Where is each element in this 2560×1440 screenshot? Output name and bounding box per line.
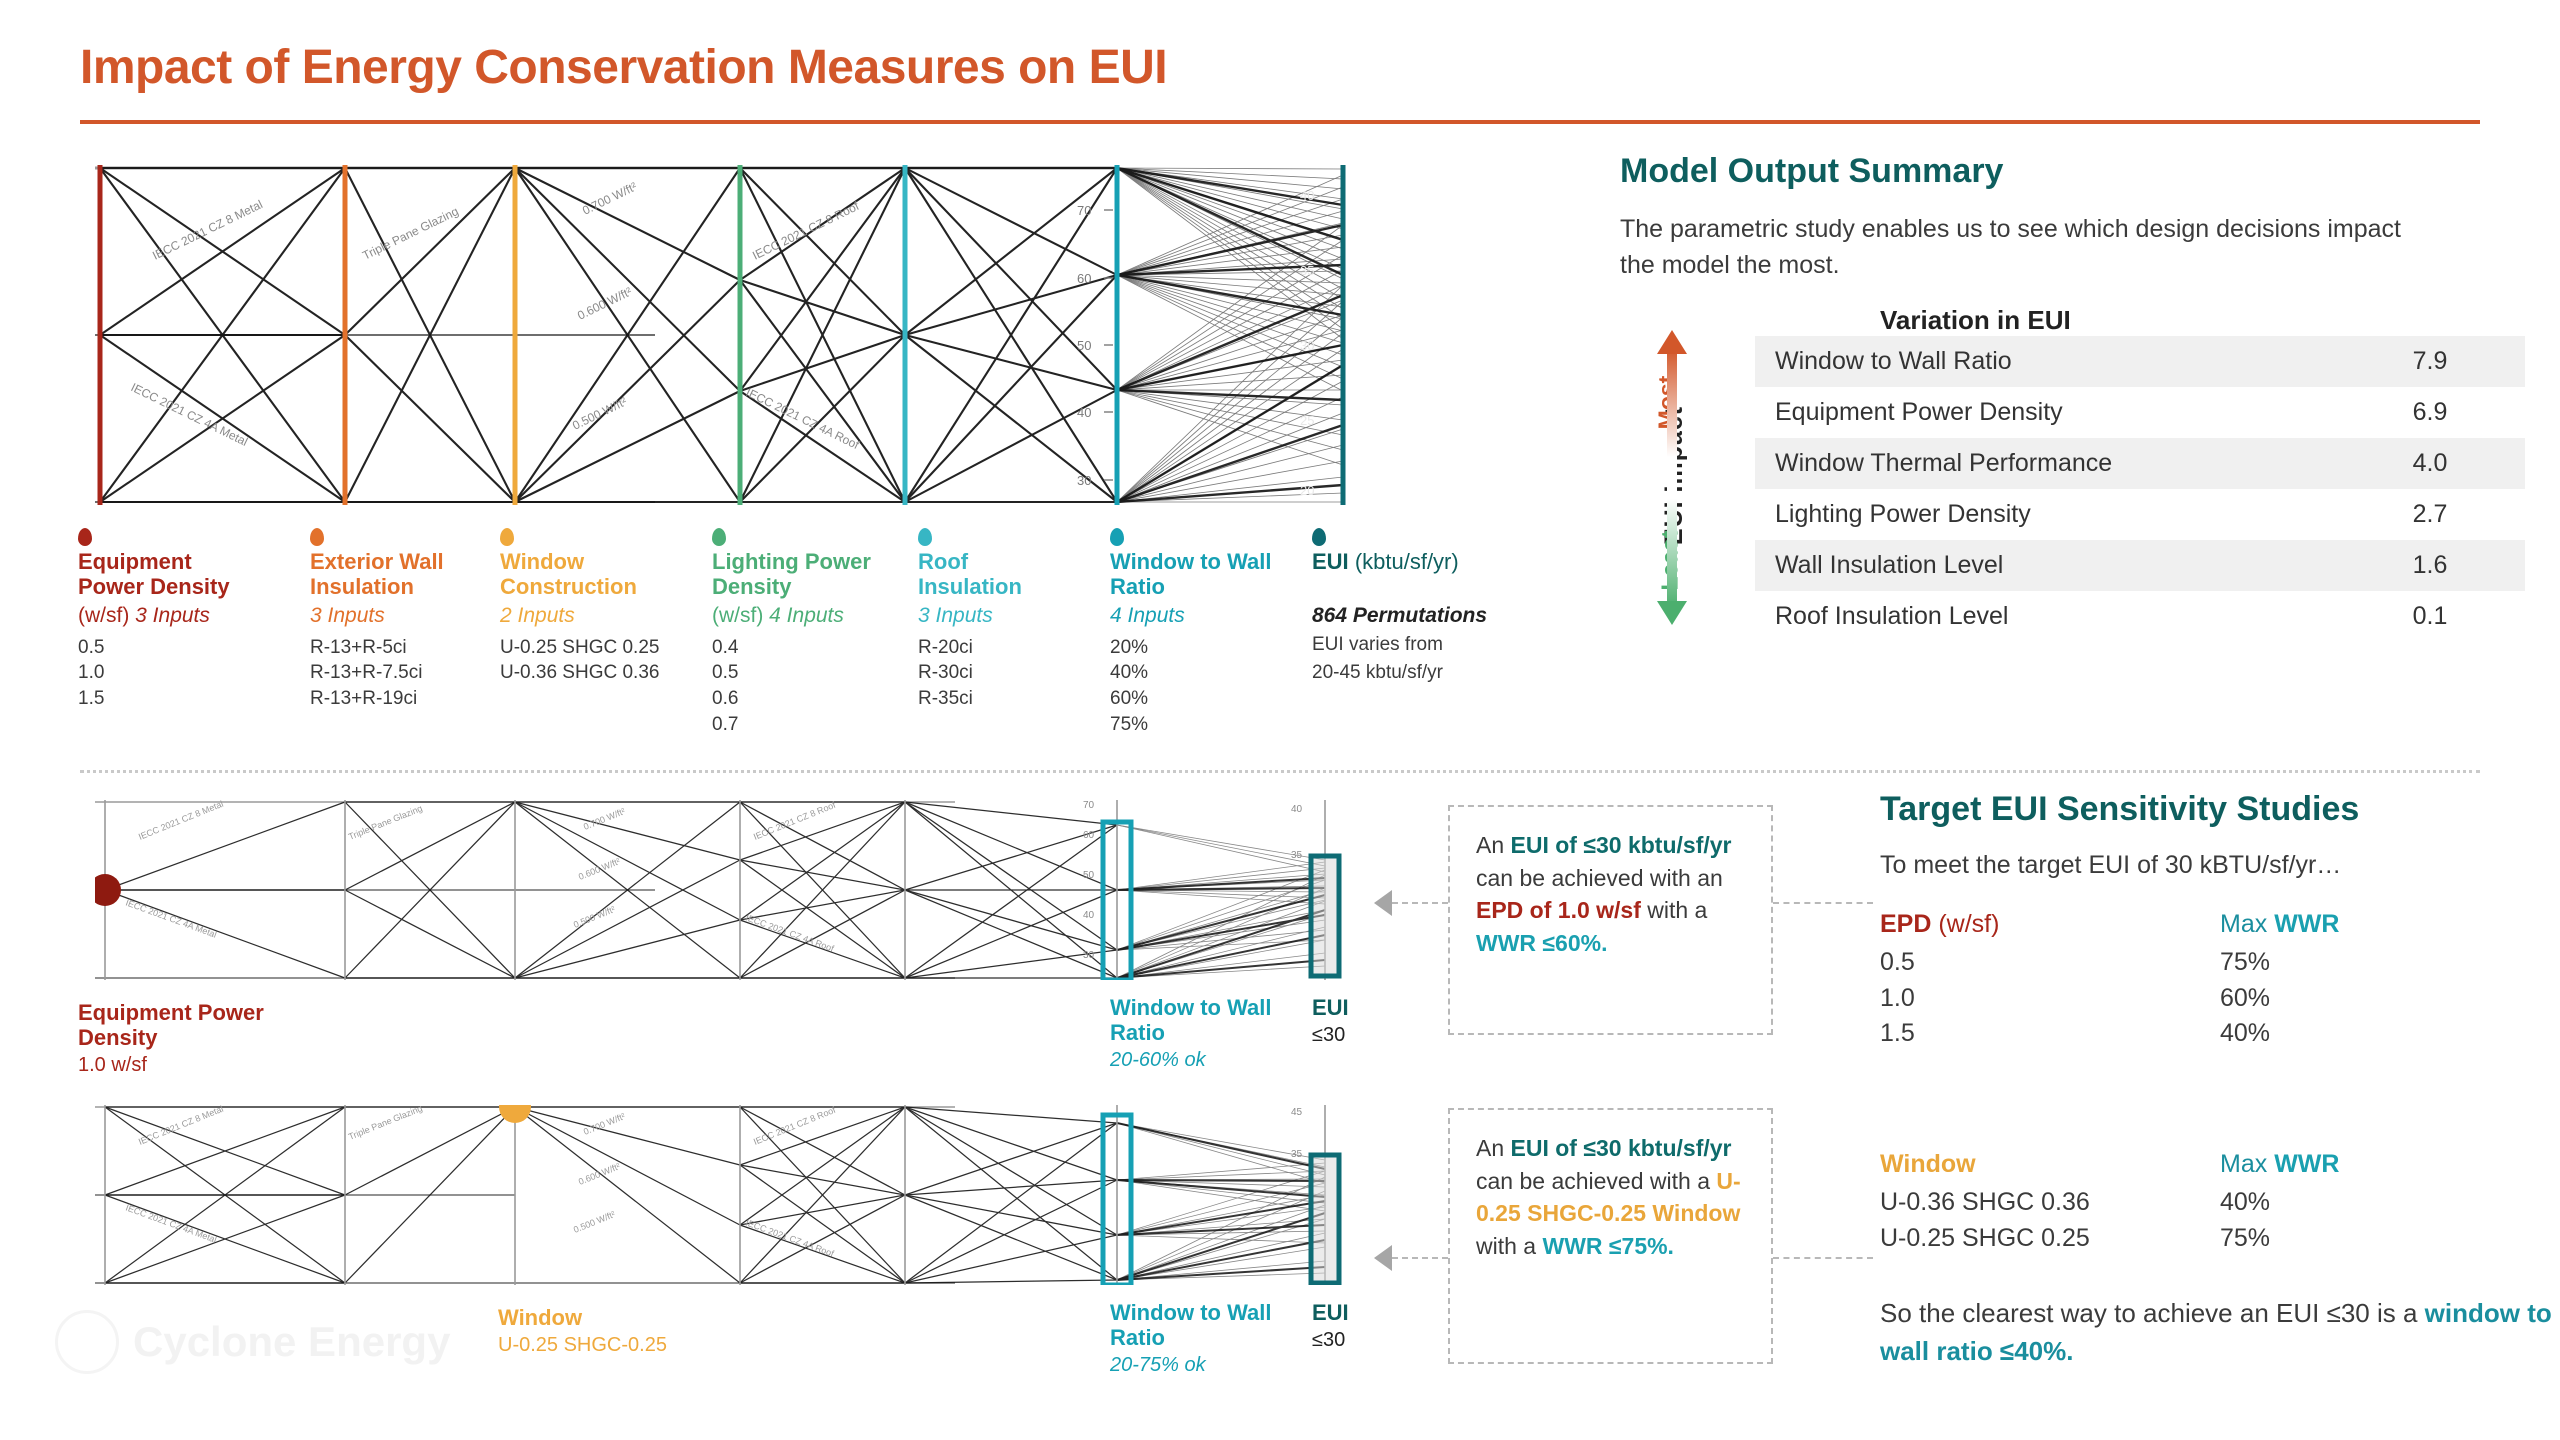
sensitivity-epd-col2-header: Max WWR: [2220, 910, 2339, 939]
svg-text:60: 60: [1083, 830, 1095, 841]
svg-text:0.500 W/ft²: 0.500 W/ft²: [572, 904, 617, 930]
variation-in-eui-column-header: Variation in EUI: [1880, 305, 2520, 336]
svg-text:40: 40: [1291, 804, 1303, 815]
study-2-arrow-line: [1392, 1257, 1448, 1259]
impact-row-name: Lighting Power Density: [1755, 500, 2335, 529]
highlight-box-eui-2: [1311, 1155, 1339, 1283]
study-1-left-value: 1.0 w/sf: [78, 1052, 338, 1078]
study-2-wwr-label: Window to Wall Ratio 20-75% ok: [1110, 1300, 1275, 1378]
wwr-tick-60: 60: [1077, 271, 1091, 286]
t: WWR: [2274, 910, 2339, 938]
study-2-arrow-line-right: [1773, 1257, 1873, 1259]
impact-row-name: Window Thermal Performance: [1755, 449, 2335, 478]
param-dot-lighting-power-density: [712, 528, 726, 546]
t: with a: [1641, 897, 1707, 923]
study-1-wwr-label: Window to Wall Ratio 20-60% ok: [1110, 995, 1275, 1073]
svg-text:0.700 W/ft²: 0.700 W/ft²: [582, 1111, 627, 1137]
param-column-window-to-wall-ratio: Window to Wall Ratio 4 Inputs 20% 40% 60…: [1110, 528, 1275, 737]
param-unit: (w/sf): [78, 604, 129, 627]
study-1-wwr-note: 20-60% ok: [1110, 1047, 1275, 1073]
t: can be achieved with an: [1476, 865, 1723, 891]
svg-text:IECC 2021 CZ 8 Metal: IECC 2021 CZ 8 Metal: [137, 800, 225, 842]
study-1-eui-value: ≤30: [1312, 1022, 1442, 1048]
sensitivity-window-header: Window Max WWR: [1880, 1150, 2540, 1179]
study-1-eui-title: EUI: [1312, 995, 1442, 1020]
sensitivity-wwr-value: 75%: [2220, 1221, 2270, 1257]
annotation-lpd-0700: 0.700 W/ft²: [580, 179, 639, 217]
param-column-roof-insulation: Roof Insulation 3 Inputs R-20ci R-30ci R…: [918, 528, 1078, 712]
param-value: R-13+R-19ci: [310, 686, 495, 712]
sensitivity-table-window: Window Max WWR U-0.36 SHGC 0.36 40% U-0.…: [1880, 1150, 2540, 1256]
param-subtitle: (w/sf) 3 Inputs: [78, 601, 263, 630]
eui-axis-title: EUI (kbtu/sf/yr): [1312, 550, 1572, 575]
svg-text:40: 40: [1083, 910, 1095, 921]
impact-row-value: 7.9: [2335, 347, 2525, 376]
sensitivity-window-value: U-0.36 SHGC 0.36: [1880, 1185, 2220, 1221]
study-2-eui-title: EUI: [1312, 1300, 1442, 1325]
svg-text:45: 45: [1291, 1107, 1303, 1118]
parallel-coordinates-chart-main: IECC 2021 CZ 8 Metal IECC 2021 CZ 4A Met…: [95, 165, 1355, 505]
study-1-svg: IECC 2021 CZ 8 Metal IECC 2021 CZ 4A Met…: [95, 800, 1355, 980]
impact-row-value: 2.7: [2335, 500, 2525, 529]
sensitivity-title: Target EUI Sensitivity Studies: [1880, 790, 2359, 829]
impact-row-name: Wall Insulation Level: [1755, 551, 2335, 580]
param-column-lighting-power-density: Lighting Power Density (w/sf) 4 Inputs 0…: [712, 528, 877, 737]
t: with a: [1476, 1233, 1542, 1259]
selected-point-equipment-power-density[interactable]: [95, 874, 121, 906]
param-dot-exterior-wall-insulation: [310, 528, 324, 546]
param-subtitle: 4 Inputs: [1110, 601, 1275, 630]
param-value: 75%: [1110, 712, 1275, 738]
annotation-lpd-0500: 0.500 W/ft²: [570, 394, 629, 432]
t: WWR ≤75%.: [1542, 1233, 1673, 1259]
eui-range-line-2: 20-45 kbtu/sf/yr: [1312, 660, 1572, 686]
param-subtitle: 3 Inputs: [310, 601, 495, 630]
param-column-exterior-wall-insulation: Exterior Wall Insulation 3 Inputs R-13+R…: [310, 528, 495, 712]
selected-point-window-construction[interactable]: [499, 1105, 531, 1123]
t: WWR: [2274, 1150, 2339, 1178]
param-values: 0.5 1.0 1.5: [78, 635, 263, 712]
param-title: Equipment Power Density: [78, 550, 263, 599]
study-2-wwr-title: Window to Wall Ratio: [1110, 1300, 1275, 1350]
t: An: [1476, 1135, 1511, 1161]
param-value: 1.5: [78, 686, 263, 712]
impact-row-name: Window to Wall Ratio: [1755, 347, 2335, 376]
sensitivity-window-col1-header: Window: [1880, 1150, 2220, 1179]
param-subtitle: (w/sf) 4 Inputs: [712, 601, 877, 630]
study-2-eui-value: ≤30: [1312, 1327, 1442, 1353]
section-divider: [80, 770, 2480, 773]
t: Window: [1880, 1150, 1976, 1178]
impact-table: Window to Wall Ratio 7.9 Equipment Power…: [1755, 336, 2525, 642]
sensitivity-wwr-value: 60%: [2220, 981, 2270, 1017]
t: EUI of ≤30 kbtu/sf/yr: [1511, 832, 1732, 858]
svg-text:0.700 W/ft²: 0.700 W/ft²: [582, 806, 627, 832]
sensitivity-window-value: U-0.25 SHGC 0.25: [1880, 1221, 2220, 1257]
sensitivity-wwr-value: 75%: [2220, 945, 2270, 981]
svg-text:0.500 W/ft²: 0.500 W/ft²: [572, 1209, 617, 1235]
param-value: R-13+R-7.5ci: [310, 660, 495, 686]
study-1-arrow-line: [1392, 902, 1448, 904]
study-2-arrow-head-icon: [1374, 1245, 1392, 1271]
svg-text:Triple Pane Glazing: Triple Pane Glazing: [347, 1105, 424, 1142]
watermark-logo-icon: [55, 1310, 119, 1374]
study-2-left-value: U-0.25 SHGC-0.25: [498, 1332, 828, 1358]
impact-row-value: 4.0: [2335, 449, 2525, 478]
study-2-callout: An EUI of ≤30 kbtu/sf/yr can be achieved…: [1448, 1108, 1773, 1364]
param-column-eui-output: EUI (kbtu/sf/yr) 864 Permutations EUI va…: [1312, 528, 1572, 685]
eui-tick-40: 40: [1300, 188, 1314, 203]
param-title: Window to Wall Ratio: [1110, 550, 1275, 599]
param-title: Exterior Wall Insulation: [310, 550, 495, 599]
param-dot-equipment-power-density: [78, 528, 92, 546]
study-1-callout: An EUI of ≤30 kbtu/sf/yr can be achieved…: [1448, 805, 1773, 1035]
svg-text:50: 50: [1083, 870, 1095, 881]
param-values: 20% 40% 60% 75%: [1110, 635, 1275, 738]
t: Max: [2220, 1150, 2274, 1178]
annotation-iecc-cz8-roof: IECC 2021 CZ 8 Roof: [750, 199, 862, 263]
param-dot-roof-insulation: [918, 528, 932, 546]
table-row[interactable]: Window Thermal Performance 4.0: [1755, 438, 2525, 489]
table-row[interactable]: Equipment Power Density 6.9: [1755, 387, 2525, 438]
table-row[interactable]: Roof Insulation Level 0.1: [1755, 591, 2525, 642]
model-output-summary-title: Model Output Summary: [1620, 152, 2003, 191]
impact-row-name: Equipment Power Density: [1755, 398, 2335, 427]
param-value: 0.7: [712, 712, 877, 738]
svg-text:0.600 W/ft²: 0.600 W/ft²: [577, 856, 622, 882]
param-subtitle: 3 Inputs: [918, 601, 1078, 630]
t: (w/sf): [1938, 910, 1999, 938]
study-2-eui-label: EUI ≤30: [1312, 1300, 1442, 1353]
study-1-arrow-line-right: [1773, 902, 1873, 904]
eui-name: EUI: [1312, 549, 1349, 574]
param-value: R-20ci: [918, 635, 1078, 661]
sensitivity-wwr-value: 40%: [2220, 1016, 2270, 1052]
eui-tick-20: 20: [1300, 483, 1314, 498]
watermark-text: Cyclone Energy: [133, 1318, 450, 1366]
table-row: 1.5 40%: [1880, 1016, 2540, 1052]
param-value: 0.6: [712, 686, 877, 712]
param-inputs: 3 Inputs: [918, 604, 993, 627]
annotation-triple-pane-glazing: Triple Pane Glazing: [360, 204, 460, 263]
table-row: U-0.36 SHGC 0.36 40%: [1880, 1185, 2540, 1221]
watermark: Cyclone Energy: [55, 1310, 450, 1374]
wwr-tick-70: 70: [1077, 203, 1091, 218]
svg-text:IECC 2021 CZ 8 Roof: IECC 2021 CZ 8 Roof: [752, 800, 837, 842]
param-values: 0.4 0.5 0.6 0.7: [712, 635, 877, 738]
study-2-wwr-note: 20-75% ok: [1110, 1352, 1275, 1378]
table-row: 1.0 60%: [1880, 981, 2540, 1017]
param-value: 0.5: [712, 660, 877, 686]
param-values: R-20ci R-30ci R-35ci: [918, 635, 1078, 712]
table-row: 0.5 75%: [1880, 945, 2540, 981]
sensitivity-window-col2-header: Max WWR: [2220, 1150, 2339, 1179]
study-2-callout-text: An EUI of ≤30 kbtu/sf/yr can be achieved…: [1476, 1132, 1745, 1263]
param-value: R-35ci: [918, 686, 1078, 712]
page-title: Impact of Energy Conservation Measures o…: [80, 40, 1167, 95]
param-value: 20%: [1110, 635, 1275, 661]
eui-unit: (kbtu/sf/yr): [1355, 549, 1459, 574]
param-inputs: 3 Inputs: [135, 604, 210, 627]
t: So the clearest way to achieve an EUI ≤3…: [1880, 1298, 2425, 1328]
study-1-callout-text: An EUI of ≤30 kbtu/sf/yr can be achieved…: [1476, 829, 1745, 960]
eui-tick-35: 35: [1300, 263, 1314, 278]
permutations-label: 864 Permutations: [1312, 601, 1572, 630]
param-inputs: 3 Inputs: [310, 604, 385, 627]
model-output-summary-description: The parametric study enables us to see w…: [1620, 212, 2420, 283]
study-1-left-title: Equipment Power Density: [78, 1000, 338, 1050]
impact-gradient-arrow-icon: [1645, 330, 1701, 625]
param-inputs: 4 Inputs: [1110, 604, 1185, 627]
svg-text:70: 70: [1083, 800, 1095, 811]
impact-row-value: 0.1: [2335, 602, 2525, 631]
svg-text:IECC 2021 CZ 8 Metal: IECC 2021 CZ 8 Metal: [137, 1105, 225, 1147]
param-value: 40%: [1110, 660, 1275, 686]
t: An: [1476, 832, 1511, 858]
eui-tick-30: 30: [1300, 338, 1314, 353]
svg-text:30: 30: [1083, 950, 1095, 961]
wwr-tick-50: 50: [1077, 338, 1091, 353]
parallel-coordinates-chart-study-1: IECC 2021 CZ 8 Metal IECC 2021 CZ 4A Met…: [95, 800, 1355, 980]
wwr-tick-40: 40: [1077, 405, 1091, 420]
param-title: Window Construction: [500, 550, 715, 599]
eui-range-line-1: EUI varies from: [1312, 632, 1572, 658]
study-2-left-title: Window: [498, 1305, 828, 1330]
param-subtitle: 2 Inputs: [500, 601, 715, 630]
study-1-wwr-title: Window to Wall Ratio: [1110, 995, 1275, 1045]
t: EUI of ≤30 kbtu/sf/yr: [1511, 1135, 1732, 1161]
param-value: U-0.25 SHGC 0.25: [500, 635, 715, 661]
param-title: Roof Insulation: [918, 550, 1078, 599]
t: Max: [2220, 910, 2274, 938]
table-row[interactable]: Lighting Power Density 2.7: [1755, 489, 2525, 540]
study-2-left-label: Window U-0.25 SHGC-0.25: [498, 1305, 828, 1358]
svg-text:Triple Pane Glazing: Triple Pane Glazing: [347, 803, 424, 842]
annotation-lpd-0600: 0.600 W/ft²: [575, 284, 634, 322]
param-values: R-13+R-5ci R-13+R-7.5ci R-13+R-19ci: [310, 635, 495, 712]
sensitivity-epd-value: 1.0: [1880, 981, 2220, 1017]
param-value: 0.5: [78, 635, 263, 661]
param-title: Lighting Power Density: [712, 550, 877, 599]
sensitivity-conclusion: So the clearest way to achieve an EUI ≤3…: [1880, 1295, 2560, 1370]
param-inputs: 2 Inputs: [500, 604, 575, 627]
param-dot-eui: [1312, 528, 1326, 546]
param-value: U-0.36 SHGC 0.36: [500, 660, 715, 686]
table-row[interactable]: Window to Wall Ratio 7.9: [1755, 336, 2525, 387]
annotation-iecc-cz8-metal: IECC 2021 CZ 8 Metal: [150, 197, 265, 263]
study-1-arrow-head-icon: [1374, 890, 1392, 916]
svg-text:35: 35: [1291, 850, 1303, 861]
study-1-left-label: Equipment Power Density 1.0 w/sf: [78, 1000, 338, 1078]
table-row[interactable]: Wall Insulation Level 1.6: [1755, 540, 2525, 591]
study-1-eui-label: EUI ≤30: [1312, 995, 1442, 1048]
highlight-box-eui: [1311, 856, 1339, 976]
sensitivity-wwr-value: 40%: [2220, 1185, 2270, 1221]
param-inputs: 4 Inputs: [769, 604, 844, 627]
param-value: 1.0: [78, 660, 263, 686]
impact-row-value: 1.6: [2335, 551, 2525, 580]
svg-text:0.600 W/ft²: 0.600 W/ft²: [577, 1161, 622, 1187]
title-underline-rule: [80, 120, 2480, 124]
param-column-equipment-power-density: Equipment Power Density (w/sf) 3 Inputs …: [78, 528, 263, 712]
t: can be achieved with a: [1476, 1168, 1716, 1194]
impact-row-name: Roof Insulation Level: [1755, 602, 2335, 631]
svg-text:IECC 2021 CZ 4A Metal: IECC 2021 CZ 4A Metal: [124, 1202, 218, 1244]
svg-text:35: 35: [1291, 1149, 1303, 1160]
eui-tick-25: 25: [1300, 413, 1314, 428]
param-values: U-0.25 SHGC 0.25 U-0.36 SHGC 0.36: [500, 635, 715, 686]
main-chart-svg: IECC 2021 CZ 8 Metal IECC 2021 CZ 4A Met…: [95, 165, 1355, 505]
param-value: R-13+R-5ci: [310, 635, 495, 661]
sensitivity-epd-value: 0.5: [1880, 945, 2220, 981]
sensitivity-epd-col1-header: EPD (w/sf): [1880, 910, 2220, 939]
param-dot-window-construction: [500, 528, 514, 546]
param-value: 60%: [1110, 686, 1275, 712]
param-value: R-30ci: [918, 660, 1078, 686]
param-column-window-construction: Window Construction 2 Inputs U-0.25 SHGC…: [500, 528, 715, 686]
sensitivity-description: To meet the target EUI of 30 kBTU/sf/yr…: [1880, 848, 2540, 883]
impact-row-value: 6.9: [2335, 398, 2525, 427]
param-unit: (w/sf): [712, 604, 763, 627]
svg-text:IECC 2021 CZ 4A Metal: IECC 2021 CZ 4A Metal: [124, 897, 218, 939]
param-value: 0.4: [712, 635, 877, 661]
param-dot-window-to-wall-ratio: [1110, 528, 1124, 546]
svg-text:IECC 2021 CZ 8 Roof: IECC 2021 CZ 8 Roof: [752, 1105, 837, 1147]
sensitivity-epd-value: 1.5: [1880, 1016, 2220, 1052]
parallel-coordinates-chart-study-2: IECC 2021 CZ 8 Metal IECC 2021 CZ 4A Met…: [95, 1105, 1355, 1285]
study-2-svg: IECC 2021 CZ 8 Metal IECC 2021 CZ 4A Met…: [95, 1105, 1355, 1285]
wwr-tick-30: 30: [1077, 473, 1091, 488]
table-row: U-0.25 SHGC 0.25 75%: [1880, 1221, 2540, 1257]
sensitivity-epd-header: EPD (w/sf) Max WWR: [1880, 910, 2540, 939]
t: EPD: [1880, 910, 1931, 938]
t: EPD of 1.0 w/sf: [1476, 897, 1641, 923]
t: WWR ≤60%.: [1476, 930, 1607, 956]
sensitivity-table-epd: EPD (w/sf) Max WWR 0.5 75% 1.0 60% 1.5 4…: [1880, 910, 2540, 1052]
